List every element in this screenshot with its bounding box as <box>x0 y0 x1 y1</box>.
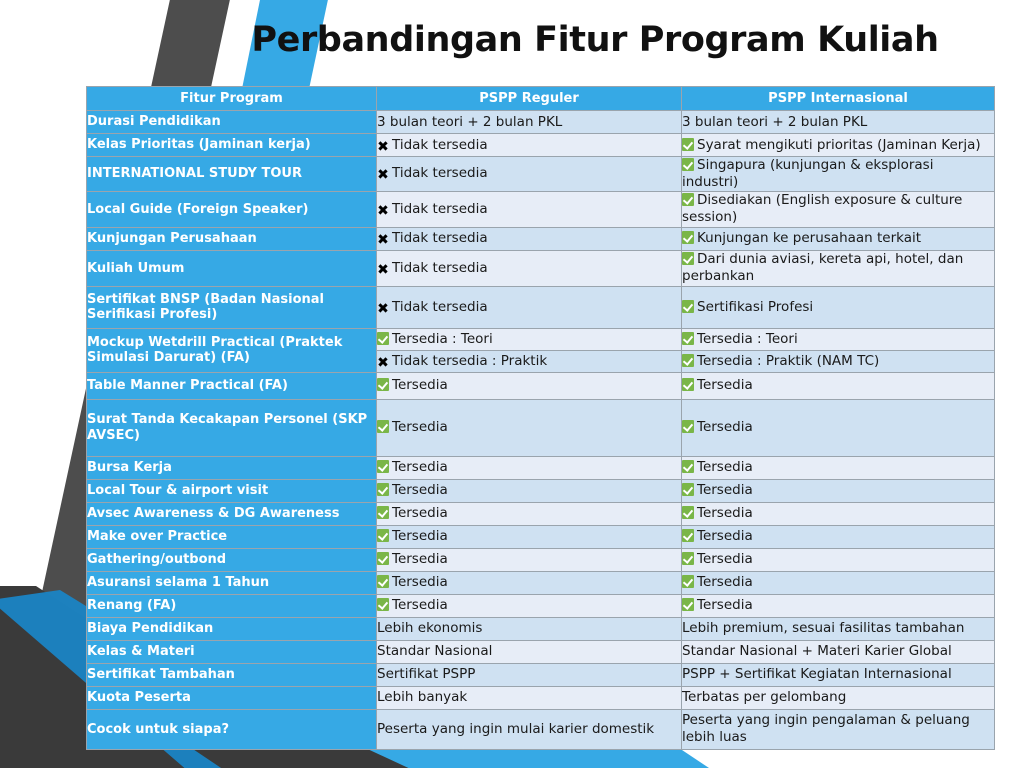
table-row: Asuransi selama 1 TahunTersediaTersedia <box>87 571 995 594</box>
table-row: Sertifikat BNSP (Badan Nasional Serifika… <box>87 286 995 328</box>
cell-text: Tersedia <box>392 482 448 498</box>
cell-text: Tersedia <box>392 551 448 567</box>
feature-label: Gathering/outbond <box>87 548 377 571</box>
check-icon <box>682 483 694 496</box>
cell-text: 3 bulan teori + 2 bulan PKL <box>682 114 867 130</box>
column-header-feature: Fitur Program <box>87 87 377 111</box>
check-icon <box>377 529 389 542</box>
cell-text: Tidak tersedia : Praktik <box>392 353 547 369</box>
cell-reguler: 3 bulan teori + 2 bulan PKL <box>377 111 682 134</box>
cell-text: Tersedia <box>697 574 753 590</box>
check-icon <box>377 460 389 473</box>
check-icon <box>682 575 694 588</box>
cell-internasional: Tersedia <box>682 479 995 502</box>
table-header-row: Fitur Program PSPP Reguler PSPP Internas… <box>87 87 995 111</box>
feature-label: Asuransi selama 1 Tahun <box>87 571 377 594</box>
cell-text: Tersedia : Teori <box>392 331 493 347</box>
feature-label: Biaya Pendidikan <box>87 617 377 640</box>
feature-label: INTERNATIONAL STUDY TOUR <box>87 157 377 192</box>
cell-internasional: 3 bulan teori + 2 bulan PKL <box>682 111 995 134</box>
cell-text: Tersedia <box>697 551 753 567</box>
cell-text: Peserta yang ingin mulai karier domestik <box>377 721 654 737</box>
cell-reguler: Sertifikat PSPP <box>377 663 682 686</box>
cell-internasional: PSPP + Sertifikat Kegiatan Internasional <box>682 663 995 686</box>
cell-reguler: Tidak tersedia <box>377 286 682 328</box>
check-icon <box>377 506 389 519</box>
cell-internasional: Tersedia <box>682 399 995 456</box>
cell-text: PSPP + Sertifikat Kegiatan Internasional <box>682 666 952 682</box>
cell-internasional: Sertifikasi Profesi <box>682 286 995 328</box>
feature-label: Make over Practice <box>87 525 377 548</box>
check-icon <box>682 300 694 313</box>
check-icon <box>682 552 694 565</box>
cell-internasional: Syarat mengikuti prioritas (Jaminan Kerj… <box>682 134 995 157</box>
feature-label: Bursa Kerja <box>87 456 377 479</box>
comparison-table: Fitur Program PSPP Reguler PSPP Internas… <box>86 86 995 750</box>
cell-text: Tersedia <box>697 528 753 544</box>
cell-reguler: Tersedia <box>377 571 682 594</box>
table-row: Kelas & MateriStandar NasionalStandar Na… <box>87 640 995 663</box>
cell-reguler: Tidak tersedia <box>377 191 682 227</box>
cell-internasional: Terbatas per gelombang <box>682 686 995 709</box>
table-row: Make over PracticeTersediaTersedia <box>87 525 995 548</box>
cell-internasional: Tersedia <box>682 594 995 617</box>
feature-label: Sertifikat Tambahan <box>87 663 377 686</box>
feature-label: Sertifikat BNSP (Badan Nasional Serifika… <box>87 286 377 328</box>
cell-reguler: Tersedia <box>377 502 682 525</box>
check-icon <box>682 529 694 542</box>
cell-reguler: Tersedia : Teori <box>377 328 682 350</box>
cell-reguler: Lebih banyak <box>377 686 682 709</box>
check-icon <box>682 598 694 611</box>
cell-text: Tersedia <box>697 505 753 521</box>
column-header-reguler: PSPP Reguler <box>377 87 682 111</box>
cell-reguler: Tidak tersedia <box>377 227 682 250</box>
cell-text: Tersedia <box>697 597 753 613</box>
cell-reguler: Tersedia <box>377 479 682 502</box>
check-icon <box>682 158 694 171</box>
table-row: Renang (FA)TersediaTersedia <box>87 594 995 617</box>
cell-reguler: Tersedia <box>377 456 682 479</box>
cross-icon <box>377 234 389 247</box>
feature-label: Avsec Awareness & DG Awareness <box>87 502 377 525</box>
feature-label: Kuliah Umum <box>87 250 377 286</box>
check-icon <box>682 332 694 345</box>
cell-reguler: Tersedia <box>377 399 682 456</box>
cell-text: Tersedia <box>697 419 753 435</box>
cell-text: Kunjungan ke perusahaan terkait <box>697 230 921 246</box>
cell-text: Tersedia <box>697 482 753 498</box>
table-row: Table Manner Practical (FA)TersediaTerse… <box>87 372 995 399</box>
cell-text: Tidak tersedia <box>392 260 488 276</box>
cell-text: Tersedia <box>392 377 448 393</box>
cell-text: Terbatas per gelombang <box>682 689 846 705</box>
table-row: Sertifikat TambahanSertifikat PSPPPSPP +… <box>87 663 995 686</box>
page-title: Perbandingan Fitur Program Kuliah <box>200 20 990 60</box>
cross-icon <box>377 169 389 182</box>
cell-internasional: Tersedia <box>682 372 995 399</box>
table-row: Cocok untuk siapa?Peserta yang ingin mul… <box>87 709 995 749</box>
cell-internasional: Tersedia <box>682 502 995 525</box>
check-icon <box>682 231 694 244</box>
cell-reguler: Tidak tersedia : Praktik <box>377 350 682 372</box>
cell-text: Tidak tersedia <box>392 201 488 217</box>
feature-label: Surat Tanda Kecakapan Personel (SKP AVSE… <box>87 399 377 456</box>
cell-text: Tidak tersedia <box>392 230 488 246</box>
cell-reguler: Lebih ekonomis <box>377 617 682 640</box>
check-icon <box>377 575 389 588</box>
table-row: Local Tour & airport visitTersediaTersed… <box>87 479 995 502</box>
cell-internasional: Tersedia <box>682 548 995 571</box>
cell-internasional: Tersedia <box>682 456 995 479</box>
cell-reguler: Tersedia <box>377 372 682 399</box>
cell-internasional: Disediakan (English exposure & culture s… <box>682 191 995 227</box>
cell-text: Tidak tersedia <box>392 299 488 315</box>
cell-reguler: Tidak tersedia <box>377 250 682 286</box>
cell-text: Tersedia <box>697 459 753 475</box>
feature-label: Table Manner Practical (FA) <box>87 372 377 399</box>
cell-text: Tersedia <box>697 377 753 393</box>
feature-label: Local Tour & airport visit <box>87 479 377 502</box>
cell-reguler: Tidak tersedia <box>377 134 682 157</box>
table-body: Durasi Pendidikan3 bulan teori + 2 bulan… <box>87 111 995 750</box>
cell-reguler: Tidak tersedia <box>377 157 682 192</box>
cell-internasional: Lebih premium, sesuai fasilitas tambahan <box>682 617 995 640</box>
cell-text: Sertifikasi Profesi <box>697 299 813 315</box>
table-row: Avsec Awareness & DG AwarenessTersediaTe… <box>87 502 995 525</box>
cross-icon <box>377 141 389 154</box>
cell-text: Tersedia <box>392 505 448 521</box>
cell-text: Tersedia <box>392 597 448 613</box>
cell-text: Tersedia <box>392 528 448 544</box>
check-icon <box>682 460 694 473</box>
cell-text: Tersedia <box>392 419 448 435</box>
feature-label: Cocok untuk siapa? <box>87 709 377 749</box>
check-icon <box>682 193 694 206</box>
table-row: Mockup Wetdrill Practical (Praktek Simul… <box>87 328 995 350</box>
cell-reguler: Tersedia <box>377 594 682 617</box>
feature-label: Kelas Prioritas (Jaminan kerja) <box>87 134 377 157</box>
table-row: Surat Tanda Kecakapan Personel (SKP AVSE… <box>87 399 995 456</box>
cross-icon <box>377 303 389 316</box>
table-row: Kunjungan PerusahaanTidak tersediaKunjun… <box>87 227 995 250</box>
feature-label: Local Guide (Foreign Speaker) <box>87 191 377 227</box>
cell-text: Standar Nasional + Materi Karier Global <box>682 643 952 659</box>
cross-icon <box>377 264 389 277</box>
cell-text: Lebih premium, sesuai fasilitas tambahan <box>682 620 964 636</box>
check-icon <box>682 138 694 151</box>
cell-text: Sertifikat PSPP <box>377 666 475 682</box>
cell-reguler: Peserta yang ingin mulai karier domestik <box>377 709 682 749</box>
table-row: Kelas Prioritas (Jaminan kerja)Tidak ter… <box>87 134 995 157</box>
cell-text: Tersedia <box>392 574 448 590</box>
check-icon <box>377 552 389 565</box>
cell-reguler: Tersedia <box>377 548 682 571</box>
feature-label: Kelas & Materi <box>87 640 377 663</box>
check-icon <box>682 354 694 367</box>
comparison-table-container: Fitur Program PSPP Reguler PSPP Internas… <box>86 86 994 750</box>
feature-label: Renang (FA) <box>87 594 377 617</box>
cell-internasional: Standar Nasional + Materi Karier Global <box>682 640 995 663</box>
cross-icon <box>377 357 389 370</box>
cell-internasional: Kunjungan ke perusahaan terkait <box>682 227 995 250</box>
cell-text: Tidak tersedia <box>392 137 488 153</box>
table-row: INTERNATIONAL STUDY TOURTidak tersediaSi… <box>87 157 995 192</box>
check-icon <box>377 420 389 433</box>
cell-reguler: Tersedia <box>377 525 682 548</box>
check-icon <box>377 483 389 496</box>
cell-text: Peserta yang ingin pengalaman & peluang … <box>682 712 970 745</box>
column-header-internasional: PSPP Internasional <box>682 87 995 111</box>
check-icon <box>377 378 389 391</box>
cell-text: Dari dunia aviasi, kereta api, hotel, da… <box>682 251 963 284</box>
cell-text: Standar Nasional <box>377 643 492 659</box>
feature-label: Mockup Wetdrill Practical (Praktek Simul… <box>87 328 377 372</box>
cell-internasional: Peserta yang ingin pengalaman & peluang … <box>682 709 995 749</box>
table-row: Gathering/outbondTersediaTersedia <box>87 548 995 571</box>
feature-label: Kunjungan Perusahaan <box>87 227 377 250</box>
cell-text: Tidak tersedia <box>392 165 488 181</box>
cell-text: Tersedia : Praktik (NAM TC) <box>697 353 879 369</box>
cell-text: Lebih banyak <box>377 689 467 705</box>
cross-icon <box>377 205 389 218</box>
table-row: Durasi Pendidikan3 bulan teori + 2 bulan… <box>87 111 995 134</box>
cell-text: Tersedia : Teori <box>697 331 798 347</box>
cell-reguler: Standar Nasional <box>377 640 682 663</box>
cell-internasional: Tersedia : Praktik (NAM TC) <box>682 350 995 372</box>
cell-text: 3 bulan teori + 2 bulan PKL <box>377 114 562 130</box>
cell-text: Syarat mengikuti prioritas (Jaminan Kerj… <box>697 137 981 153</box>
check-icon <box>377 332 389 345</box>
cell-text: Lebih ekonomis <box>377 620 482 636</box>
check-icon <box>682 420 694 433</box>
cell-text: Singapura (kunjungan & eksplorasi indust… <box>682 157 933 190</box>
cell-internasional: Tersedia : Teori <box>682 328 995 350</box>
table-row: Bursa KerjaTersediaTersedia <box>87 456 995 479</box>
table-row: Kuota PesertaLebih banyakTerbatas per ge… <box>87 686 995 709</box>
feature-label: Durasi Pendidikan <box>87 111 377 134</box>
table-row: Biaya PendidikanLebih ekonomisLebih prem… <box>87 617 995 640</box>
feature-label: Kuota Peserta <box>87 686 377 709</box>
check-icon <box>377 598 389 611</box>
cell-internasional: Singapura (kunjungan & eksplorasi indust… <box>682 157 995 192</box>
table-row: Kuliah UmumTidak tersediaDari dunia avia… <box>87 250 995 286</box>
check-icon <box>682 506 694 519</box>
check-icon <box>682 252 694 265</box>
cell-text: Disediakan (English exposure & culture s… <box>682 192 962 225</box>
check-icon <box>682 378 694 391</box>
table-row: Local Guide (Foreign Speaker)Tidak terse… <box>87 191 995 227</box>
cell-internasional: Tersedia <box>682 571 995 594</box>
cell-internasional: Dari dunia aviasi, kereta api, hotel, da… <box>682 250 995 286</box>
cell-internasional: Tersedia <box>682 525 995 548</box>
cell-text: Tersedia <box>392 459 448 475</box>
